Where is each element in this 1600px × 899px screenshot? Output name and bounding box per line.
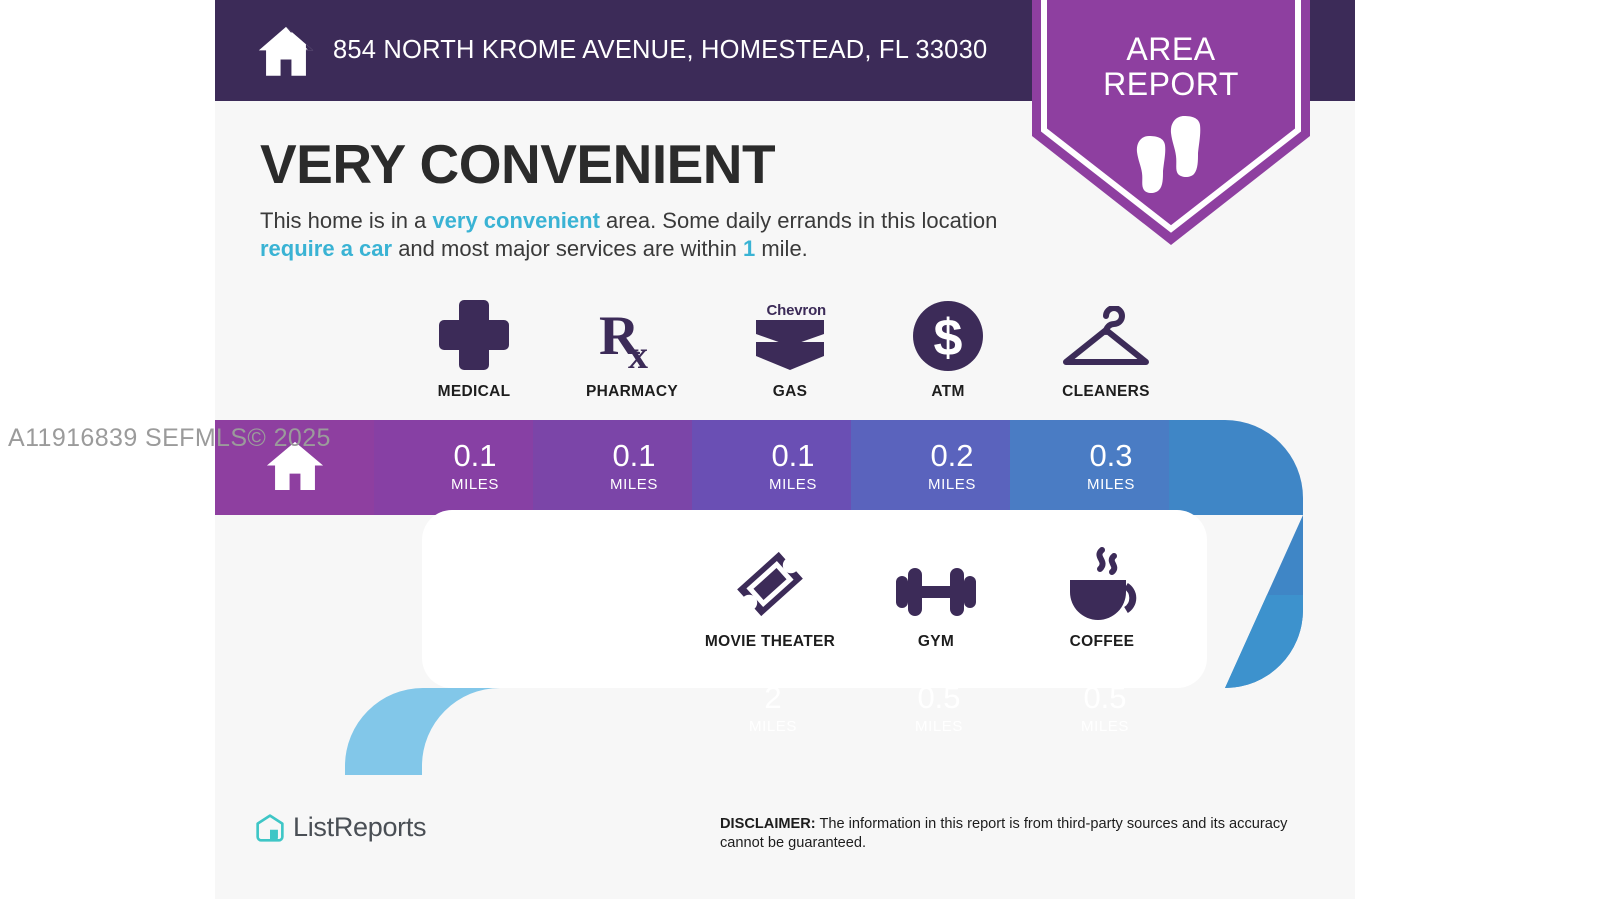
- area-report-badge: AREA REPORT: [1032, 0, 1310, 245]
- listreports-logo[interactable]: ListReports: [255, 812, 426, 843]
- listreports-house-icon: [255, 813, 285, 843]
- amenity-label: ATM: [931, 383, 964, 401]
- home-icon: [257, 25, 315, 77]
- report-card: 854 NORTH KROME AVENUE, HOMESTEAD, FL 33…: [215, 0, 1355, 899]
- home-marker-icon: [266, 441, 324, 491]
- listreports-wordmark: ListReports: [293, 812, 426, 843]
- disclaimer-label: DISCLAIMER:: [720, 816, 816, 832]
- amenity-medical: MEDICAL: [395, 298, 553, 401]
- dumbbell-icon: [890, 548, 982, 622]
- amenity-row-2: MOVIE THEATER GYM: [687, 548, 1187, 651]
- amenity-label: COFFEE: [1070, 633, 1135, 651]
- chevron-gas-icon: Chevron: [754, 298, 826, 372]
- amenity-row-1: MEDICAL R x PHARMACY Chevron: [395, 298, 1185, 401]
- coffee-cup-icon: [1062, 548, 1142, 622]
- hanger-icon: [1060, 298, 1152, 372]
- summary-highlight-car: require a car: [260, 236, 392, 261]
- dollar-circle-icon: $: [912, 298, 984, 372]
- summary-part-3: and most major services are within: [392, 236, 743, 261]
- summary-part-2: area. Some daily errands in this locatio…: [600, 208, 997, 233]
- summary-text: This home is in a very convenient area. …: [260, 207, 1020, 263]
- amenity-label: GYM: [918, 633, 954, 651]
- amenity-pharmacy: R x PHARMACY: [553, 298, 711, 401]
- svg-text:$: $: [934, 309, 963, 367]
- amenity-coffee: COFFEE: [1019, 548, 1185, 651]
- amenity-gas: Chevron GAS: [711, 298, 869, 401]
- amenity-gym: GYM: [853, 548, 1019, 651]
- amenity-label: CLEANERS: [1062, 383, 1150, 401]
- property-address: 854 NORTH KROME AVENUE, HOMESTEAD, FL 33…: [333, 36, 987, 65]
- amenity-label: GAS: [773, 383, 808, 401]
- summary-highlight-convenient: very convenient: [432, 208, 600, 233]
- amenity-atm: $ ATM: [869, 298, 1027, 401]
- ribbon-row-1: [215, 420, 1355, 515]
- disclaimer: DISCLAIMER: The information in this repo…: [720, 815, 1320, 854]
- amenity-label: MOVIE THEATER: [705, 633, 835, 651]
- ticket-icon: [732, 548, 808, 622]
- summary-highlight-miles: 1: [743, 236, 755, 261]
- amenity-cleaners: CLEANERS: [1027, 298, 1185, 401]
- page-title: VERY CONVENIENT: [260, 132, 1080, 196]
- summary-part-4: mile.: [755, 236, 808, 261]
- area-report-page: 854 NORTH KROME AVENUE, HOMESTEAD, FL 33…: [0, 0, 1600, 899]
- amenity-label: MEDICAL: [438, 383, 511, 401]
- svg-text:x: x: [628, 332, 648, 372]
- chevron-brand-label: Chevron: [767, 302, 826, 319]
- rx-icon: R x: [595, 298, 669, 372]
- medical-cross-icon: [437, 298, 511, 372]
- amenity-movie-theater: MOVIE THEATER: [687, 548, 853, 651]
- amenity-label: PHARMACY: [586, 383, 678, 401]
- summary-part-1: This home is in a: [260, 208, 432, 233]
